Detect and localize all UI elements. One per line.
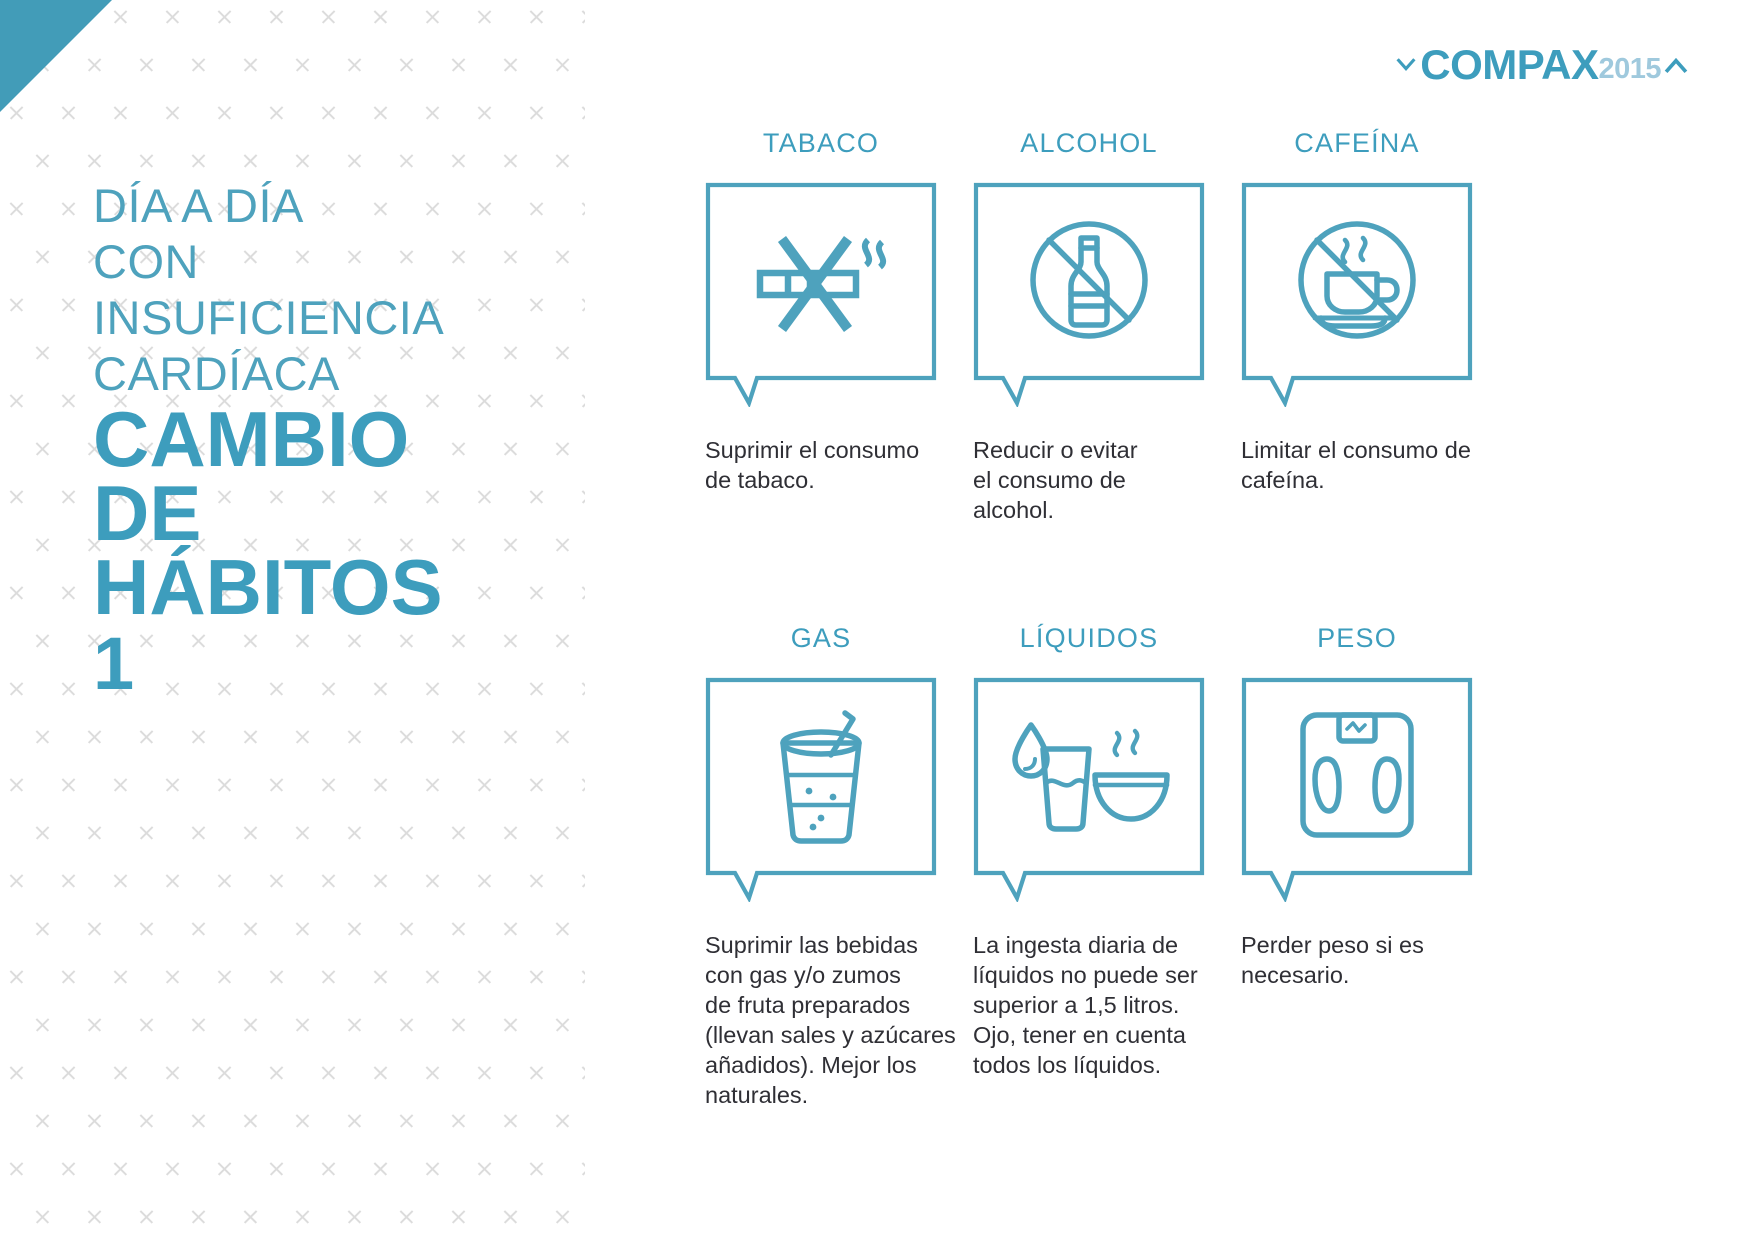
x-pattern-mark (242, 152, 259, 169)
x-pattern-mark (398, 56, 415, 73)
x-pattern-mark (8, 200, 25, 217)
x-pattern-mark (372, 8, 389, 25)
card-text: Suprimir las bebidas con gas y/o zumos d… (705, 930, 963, 1110)
x-pattern-mark (372, 104, 389, 121)
x-pattern-mark (476, 1160, 493, 1177)
card-heading: GAS (705, 623, 937, 654)
left-panel: DÍA A DÍA CON INSUFICIENCIA CARDÍACA CAM… (0, 0, 585, 1240)
x-pattern-mark (164, 1064, 181, 1081)
x-pattern-mark (424, 1160, 441, 1177)
x-pattern-mark (398, 1016, 415, 1033)
x-pattern-mark (34, 440, 51, 457)
x-pattern-mark (398, 152, 415, 169)
x-pattern-mark (554, 1112, 571, 1129)
x-pattern-mark (8, 872, 25, 889)
x-pattern-mark (554, 440, 571, 457)
x-pattern-mark (242, 728, 259, 745)
x-pattern-mark (450, 920, 467, 937)
x-pattern-mark (216, 8, 233, 25)
speech-bubble (705, 182, 937, 407)
x-pattern-mark (86, 728, 103, 745)
card-text: Suprimir el consumo de tabaco. (705, 435, 957, 495)
x-pattern-mark (86, 920, 103, 937)
x-pattern-mark (554, 632, 571, 649)
x-pattern-mark (372, 1160, 389, 1177)
card-text: Limitar el consumo de cafeína. (1241, 435, 1493, 495)
x-pattern-mark (60, 872, 77, 889)
x-pattern-mark (8, 296, 25, 313)
x-pattern-mark (112, 1064, 129, 1081)
x-pattern-mark (528, 1064, 545, 1081)
x-pattern-mark (34, 344, 51, 361)
x-pattern-mark (502, 56, 519, 73)
x-pattern-mark (86, 152, 103, 169)
x-pattern-mark (138, 1016, 155, 1033)
logo-year: 2015 (1598, 40, 1661, 90)
x-pattern-mark (528, 104, 545, 121)
x-pattern-mark (294, 56, 311, 73)
infographic-page: DÍA A DÍA CON INSUFICIENCIA CARDÍACA CAM… (0, 0, 1754, 1240)
x-pattern-mark (34, 824, 51, 841)
card-text: La ingesta diaria de líquidos no puede s… (973, 930, 1225, 1080)
x-pattern-mark (34, 920, 51, 937)
x-pattern-mark (528, 872, 545, 889)
x-pattern-mark (34, 152, 51, 169)
x-pattern-mark (34, 728, 51, 745)
title-line-4: CARDÍACA (93, 346, 553, 402)
x-pattern-mark (112, 872, 129, 889)
x-pattern-mark (580, 200, 585, 217)
x-pattern-mark (86, 1112, 103, 1129)
x-pattern-mark (424, 968, 441, 985)
x-pattern-mark (320, 872, 337, 889)
bathroom-scale-icon (1241, 677, 1473, 873)
x-pattern-mark (398, 824, 415, 841)
x-pattern-mark (528, 776, 545, 793)
speech-bubble (1241, 182, 1473, 407)
x-pattern-mark (372, 872, 389, 889)
title-line-2: CON (93, 234, 553, 290)
x-pattern-mark (346, 1208, 363, 1225)
x-pattern-mark (398, 920, 415, 937)
x-pattern-mark (450, 1016, 467, 1033)
x-pattern-mark (268, 968, 285, 985)
x-pattern-mark (242, 1112, 259, 1129)
x-pattern-mark (320, 8, 337, 25)
x-pattern-mark (60, 1160, 77, 1177)
x-pattern-mark (164, 872, 181, 889)
x-pattern-mark (450, 152, 467, 169)
x-pattern-mark (138, 1208, 155, 1225)
x-pattern-mark (294, 920, 311, 937)
x-pattern-mark (346, 152, 363, 169)
x-pattern-mark (580, 872, 585, 889)
x-pattern-mark (346, 1112, 363, 1129)
title-line-6: DE (93, 476, 553, 550)
card-liquidos: LÍQUIDOS (973, 623, 1241, 1110)
x-pattern-mark (138, 56, 155, 73)
x-pattern-mark (112, 968, 129, 985)
x-pattern-mark (138, 1112, 155, 1129)
speech-bubble (973, 182, 1205, 407)
x-pattern-mark (8, 488, 25, 505)
card-heading: ALCOHOL (973, 128, 1205, 159)
x-pattern-mark (242, 56, 259, 73)
x-pattern-mark (502, 152, 519, 169)
x-pattern-mark (424, 1064, 441, 1081)
x-pattern-mark (450, 824, 467, 841)
x-pattern-mark (86, 1208, 103, 1225)
x-pattern-mark (528, 968, 545, 985)
x-pattern-mark (60, 776, 77, 793)
x-pattern-mark (320, 1160, 337, 1177)
x-pattern-mark (580, 1160, 585, 1177)
x-pattern-mark (8, 1064, 25, 1081)
x-pattern-mark (190, 1016, 207, 1033)
x-pattern-mark (580, 584, 585, 601)
x-pattern-mark (138, 152, 155, 169)
x-pattern-mark (60, 584, 77, 601)
x-pattern-mark (112, 776, 129, 793)
x-pattern-mark (554, 56, 571, 73)
x-pattern-mark (138, 920, 155, 937)
x-pattern-mark (190, 920, 207, 937)
x-pattern-mark (60, 200, 77, 217)
card-cafeina: CAFEÍNA (1241, 128, 1509, 525)
card-text: Perder peso si es necesario. (1241, 930, 1493, 990)
chevron-down-icon (1395, 54, 1417, 76)
x-pattern-mark (216, 776, 233, 793)
x-pattern-mark (8, 1160, 25, 1177)
speech-bubble (973, 677, 1205, 902)
x-pattern-mark (268, 1160, 285, 1177)
x-pattern-mark (60, 392, 77, 409)
x-pattern-mark (424, 872, 441, 889)
title-line-3: INSUFICIENCIA (93, 290, 553, 346)
x-pattern-mark (216, 104, 233, 121)
card-tabaco: TABACO (705, 128, 973, 525)
x-pattern-mark (242, 1016, 259, 1033)
x-pattern-mark (34, 1208, 51, 1225)
x-pattern-mark (112, 8, 129, 25)
x-pattern-mark (476, 8, 493, 25)
x-pattern-mark (190, 56, 207, 73)
x-pattern-mark (502, 824, 519, 841)
x-pattern-mark (294, 728, 311, 745)
x-pattern-mark (372, 776, 389, 793)
speech-bubble (1241, 677, 1473, 902)
x-pattern-mark (164, 776, 181, 793)
x-pattern-mark (294, 1016, 311, 1033)
x-pattern-mark (580, 680, 585, 697)
x-pattern-mark (8, 776, 25, 793)
corner-triangle-decoration (0, 0, 112, 112)
x-pattern-mark (554, 728, 571, 745)
x-pattern-mark (450, 1112, 467, 1129)
x-pattern-mark (554, 1208, 571, 1225)
x-pattern-mark (60, 488, 77, 505)
x-pattern-mark (580, 8, 585, 25)
x-pattern-mark (476, 1064, 493, 1081)
x-pattern-mark (60, 296, 77, 313)
x-pattern-mark (8, 968, 25, 985)
x-pattern-mark (502, 920, 519, 937)
x-pattern-mark (320, 1064, 337, 1081)
x-pattern-mark (476, 968, 493, 985)
x-pattern-mark (346, 56, 363, 73)
x-pattern-mark (580, 1064, 585, 1081)
x-pattern-mark (60, 680, 77, 697)
x-pattern-mark (268, 104, 285, 121)
x-pattern-mark (294, 152, 311, 169)
title-line-5: CAMBIO (93, 402, 553, 476)
x-pattern-mark (424, 104, 441, 121)
speech-bubble (705, 677, 937, 902)
no-coffee-cup-icon (1241, 182, 1473, 378)
x-pattern-mark (450, 1208, 467, 1225)
x-pattern-mark (112, 104, 129, 121)
x-pattern-mark (86, 824, 103, 841)
card-text: Reducir o evitar el consumo de alcohol. (973, 435, 1225, 525)
x-pattern-mark (320, 776, 337, 793)
x-pattern-mark (268, 1064, 285, 1081)
x-pattern-mark (294, 1208, 311, 1225)
card-row-1: TABACO (705, 128, 1705, 525)
soda-cup-with-straw-icon (705, 677, 937, 873)
x-pattern-mark (60, 968, 77, 985)
x-pattern-mark (450, 56, 467, 73)
x-pattern-mark (554, 824, 571, 841)
no-smoking-icon (705, 182, 937, 378)
x-pattern-mark (346, 1016, 363, 1033)
x-pattern-mark (216, 1064, 233, 1081)
x-pattern-mark (34, 1016, 51, 1033)
title-line-8: 1 (93, 624, 553, 704)
x-pattern-mark (86, 1016, 103, 1033)
x-pattern-mark (502, 1016, 519, 1033)
x-pattern-mark (346, 920, 363, 937)
x-pattern-mark (580, 488, 585, 505)
x-pattern-mark (8, 584, 25, 601)
x-pattern-mark (112, 1160, 129, 1177)
x-pattern-mark (580, 968, 585, 985)
x-pattern-mark (320, 968, 337, 985)
x-pattern-mark (346, 824, 363, 841)
x-pattern-mark (424, 8, 441, 25)
x-pattern-mark (554, 1016, 571, 1033)
x-pattern-mark (190, 728, 207, 745)
chevron-up-icon (1663, 52, 1689, 78)
x-pattern-mark (138, 728, 155, 745)
card-peso: PESO (1241, 623, 1509, 1110)
x-pattern-mark (450, 728, 467, 745)
x-pattern-mark (8, 392, 25, 409)
card-gas: GAS (705, 623, 973, 1110)
card-alcohol: ALCOHOL (973, 128, 1241, 525)
x-pattern-mark (34, 1112, 51, 1129)
x-pattern-mark (554, 248, 571, 265)
x-pattern-mark (580, 776, 585, 793)
x-pattern-mark (346, 728, 363, 745)
x-pattern-mark (554, 344, 571, 361)
habits-card-grid: TABACO (705, 128, 1705, 1110)
x-pattern-mark (164, 8, 181, 25)
x-pattern-mark (268, 8, 285, 25)
x-pattern-mark (190, 152, 207, 169)
x-pattern-mark (502, 1112, 519, 1129)
x-pattern-mark (34, 632, 51, 649)
x-pattern-mark (580, 392, 585, 409)
x-pattern-mark (528, 1160, 545, 1177)
x-pattern-mark (554, 920, 571, 937)
title-line-1: DÍA A DÍA (93, 178, 553, 234)
x-pattern-mark (164, 968, 181, 985)
x-pattern-mark (268, 872, 285, 889)
x-pattern-mark (216, 968, 233, 985)
card-heading: CAFEÍNA (1241, 128, 1473, 159)
x-pattern-mark (372, 968, 389, 985)
x-pattern-mark (216, 872, 233, 889)
x-pattern-mark (138, 824, 155, 841)
logo-name: COMPAX (1420, 44, 1598, 86)
x-pattern-mark (528, 8, 545, 25)
x-pattern-mark (294, 1112, 311, 1129)
x-pattern-mark (554, 152, 571, 169)
x-pattern-mark (398, 1112, 415, 1129)
x-pattern-mark (60, 1064, 77, 1081)
x-pattern-mark (372, 1064, 389, 1081)
x-pattern-mark (190, 1208, 207, 1225)
card-heading: LÍQUIDOS (973, 623, 1205, 654)
x-pattern-mark (8, 680, 25, 697)
card-row-2: GAS (705, 623, 1705, 1110)
no-alcohol-bottle-icon (973, 182, 1205, 378)
x-pattern-mark (580, 104, 585, 121)
title-line-7: HÁBITOS (93, 550, 553, 624)
x-pattern-mark (190, 824, 207, 841)
x-pattern-mark (164, 1160, 181, 1177)
x-pattern-mark (34, 248, 51, 265)
card-heading: TABACO (705, 128, 937, 159)
compax-logo: COMPAX 2015 (1395, 44, 1689, 86)
x-pattern-mark (398, 1208, 415, 1225)
x-pattern-mark (216, 1160, 233, 1177)
x-pattern-mark (34, 536, 51, 553)
x-pattern-mark (294, 824, 311, 841)
x-pattern-mark (554, 536, 571, 553)
x-pattern-mark (268, 776, 285, 793)
x-pattern-mark (476, 872, 493, 889)
x-pattern-mark (502, 728, 519, 745)
x-pattern-mark (242, 1208, 259, 1225)
x-pattern-mark (398, 728, 415, 745)
x-pattern-mark (476, 776, 493, 793)
x-pattern-mark (320, 104, 337, 121)
x-pattern-mark (502, 1208, 519, 1225)
x-pattern-mark (476, 104, 493, 121)
x-pattern-mark (580, 296, 585, 313)
x-pattern-mark (242, 824, 259, 841)
x-pattern-mark (164, 104, 181, 121)
x-pattern-mark (424, 776, 441, 793)
page-title: DÍA A DÍA CON INSUFICIENCIA CARDÍACA CAM… (93, 178, 553, 704)
water-glass-and-soup-bowl-icon (973, 677, 1205, 873)
x-pattern-mark (242, 920, 259, 937)
card-heading: PESO (1241, 623, 1473, 654)
x-pattern-mark (190, 1112, 207, 1129)
